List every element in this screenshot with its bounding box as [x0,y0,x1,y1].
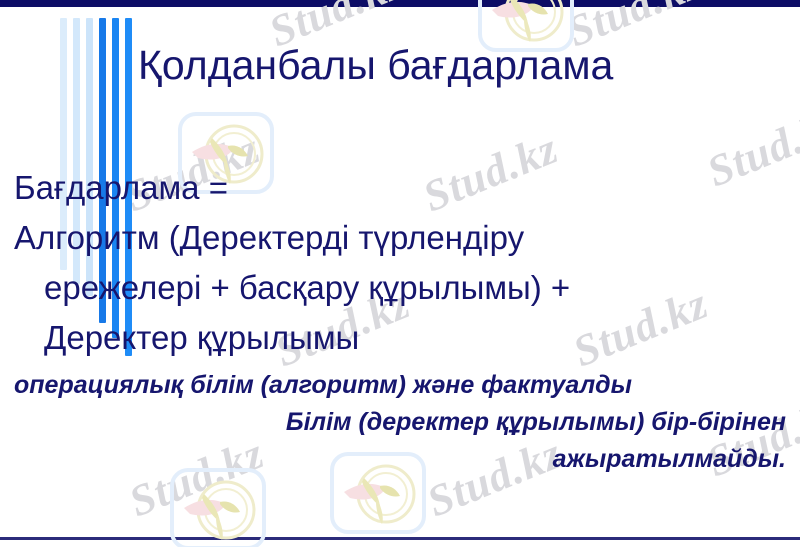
top-accent-bar [0,0,800,7]
body-line-4: Деректер құрылымы [14,313,786,363]
italic-note-block: операциялық білім (алгоритм) және фактуа… [14,367,786,478]
body-text-block: Бағдарлама =Алгоритм (Деректерді түрленд… [14,163,786,363]
italic-line-1: операциялық білім (алгоритм) және фактуа… [14,367,786,404]
body-line-2: Алгоритм (Деректерді түрлендіру [14,213,786,263]
body-line-3: ережелері + басқару құрылымы) + [14,263,786,313]
slide: Stud.kzStud.kzStud.kzStud.kzStud.kzStud.… [0,0,800,547]
hummingbird-logo-icon [170,468,266,547]
bottom-accent-rule [0,537,800,540]
italic-line-3: ажыратылмайды. [14,441,786,478]
page-title: Қолданбалы бағдарлама [138,41,613,89]
body-line-1: Бағдарлама = [14,163,786,213]
italic-line-2: Білім (деректер құрылымы) бір-бірінен [14,404,786,441]
